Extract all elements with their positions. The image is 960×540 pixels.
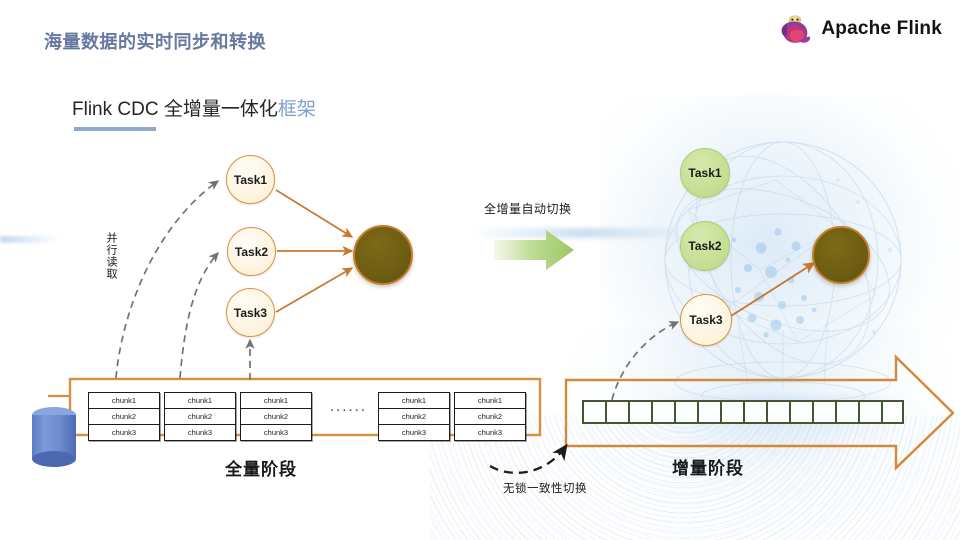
flink-squirrel-logo-icon (779, 11, 813, 47)
slide-canvas: 海量数据的实时同步和转换 Apache Flink Flink CDC 全增量一… (0, 0, 960, 540)
right-task-3-label: Task3 (689, 313, 722, 327)
chunk-box-3[interactable]: chunk1 chunk2 chunk3 (240, 392, 312, 441)
right-task-2-label: Task2 (688, 239, 721, 253)
right-task-3[interactable]: Task3 (680, 294, 732, 346)
chunk-row: chunk1 (89, 393, 159, 409)
brand-name: Apache Flink (821, 18, 942, 40)
network-globe-icon (628, 120, 938, 420)
dashed-arrow-to-right-task3 (612, 322, 678, 400)
parallel-read-label: 并行读取 (101, 232, 117, 280)
right-sink-node-icon[interactable] (812, 226, 870, 284)
chunk-row: chunk2 (379, 409, 449, 425)
subtitle-highlight: 框架 (278, 99, 316, 120)
left-task-2-label: Task2 (235, 245, 268, 259)
chunk-row: chunk3 (165, 425, 235, 440)
binlog-cell[interactable] (720, 400, 743, 424)
lockless-switch-label: 无锁一致性切换 (503, 480, 587, 496)
chunk-row: chunk3 (241, 425, 311, 440)
binlog-cell[interactable] (789, 400, 812, 424)
left-task-1-label: Task1 (234, 173, 267, 187)
brand-logo: Apache Flink (779, 11, 942, 47)
chunk-row: chunk1 (241, 393, 311, 409)
binlog-cell[interactable] (858, 400, 881, 424)
chunk-row: chunk1 (379, 393, 449, 409)
chunk-row: chunk3 (89, 425, 159, 440)
chunk-row: chunk1 (455, 393, 525, 409)
chunk-row: chunk1 (165, 393, 235, 409)
background-glow-lower (560, 330, 960, 540)
binlog-cell[interactable] (651, 400, 674, 424)
chunk-row: chunk3 (455, 425, 525, 440)
background-light-streak-left (0, 236, 60, 243)
chunk-row: chunk3 (379, 425, 449, 440)
subtitle-main: Flink CDC 全增量一体化 (72, 99, 278, 120)
chunk-row: chunk2 (89, 409, 159, 425)
binlog-cell[interactable] (697, 400, 720, 424)
left-task-2[interactable]: Task2 (227, 227, 276, 276)
db-bottom-ellipse (32, 451, 76, 467)
green-gradient-arrow-icon (494, 230, 574, 270)
dashed-curved-arrow-icon (490, 446, 566, 473)
section-subtitle: Flink CDC 全增量一体化框架 (72, 94, 316, 121)
chunk-box-5[interactable]: chunk1 chunk2 chunk3 (454, 392, 526, 441)
left-task-3-label: Task3 (234, 306, 267, 320)
left-sink-node-icon[interactable] (353, 225, 413, 285)
right-task-2[interactable]: Task2 (680, 221, 730, 271)
chunk-ellipsis: ······ (322, 405, 376, 417)
binlog-cell[interactable] (605, 400, 628, 424)
left-task-3[interactable]: Task3 (226, 288, 275, 337)
chunk-row: chunk2 (165, 409, 235, 425)
background-glow (600, 95, 960, 425)
page-title: 海量数据的实时同步和转换 (44, 28, 266, 54)
binlog-cell[interactable] (812, 400, 835, 424)
binlog-cell[interactable] (835, 400, 858, 424)
binlog-cell[interactable] (674, 400, 697, 424)
chunk-box-4[interactable]: chunk1 chunk2 chunk3 (378, 392, 450, 441)
binlog-cell-row[interactable] (582, 400, 904, 424)
binlog-cell[interactable] (881, 400, 904, 424)
dashed-arrow-to-task1 (116, 181, 218, 378)
binlog-cell[interactable] (628, 400, 651, 424)
incremental-phase-label: 增量阶段 (672, 454, 744, 479)
binlog-cell[interactable] (743, 400, 766, 424)
database-cylinder-icon[interactable] (32, 407, 76, 465)
chunk-box-2[interactable]: chunk1 chunk2 chunk3 (164, 392, 236, 441)
left-task-1[interactable]: Task1 (226, 155, 275, 204)
background-light-streak (470, 228, 680, 238)
right-task-1[interactable]: Task1 (680, 148, 730, 198)
binlog-cell[interactable] (582, 400, 605, 424)
full-phase-label: 全量阶段 (225, 455, 297, 480)
binlog-cell[interactable] (766, 400, 789, 424)
chunk-row: chunk2 (241, 409, 311, 425)
right-task3-to-sink-arrow (731, 263, 814, 316)
right-task-1-label: Task1 (688, 166, 721, 180)
subtitle-underline (74, 127, 156, 131)
auto-switch-label: 全增量自动切换 (484, 200, 572, 217)
task3-to-sink-arrow (276, 268, 352, 312)
task1-to-sink-arrow (276, 190, 352, 237)
dashed-arrow-to-task2 (180, 253, 218, 378)
chunk-row: chunk2 (455, 409, 525, 425)
chunk-box-1[interactable]: chunk1 chunk2 chunk3 (88, 392, 160, 441)
